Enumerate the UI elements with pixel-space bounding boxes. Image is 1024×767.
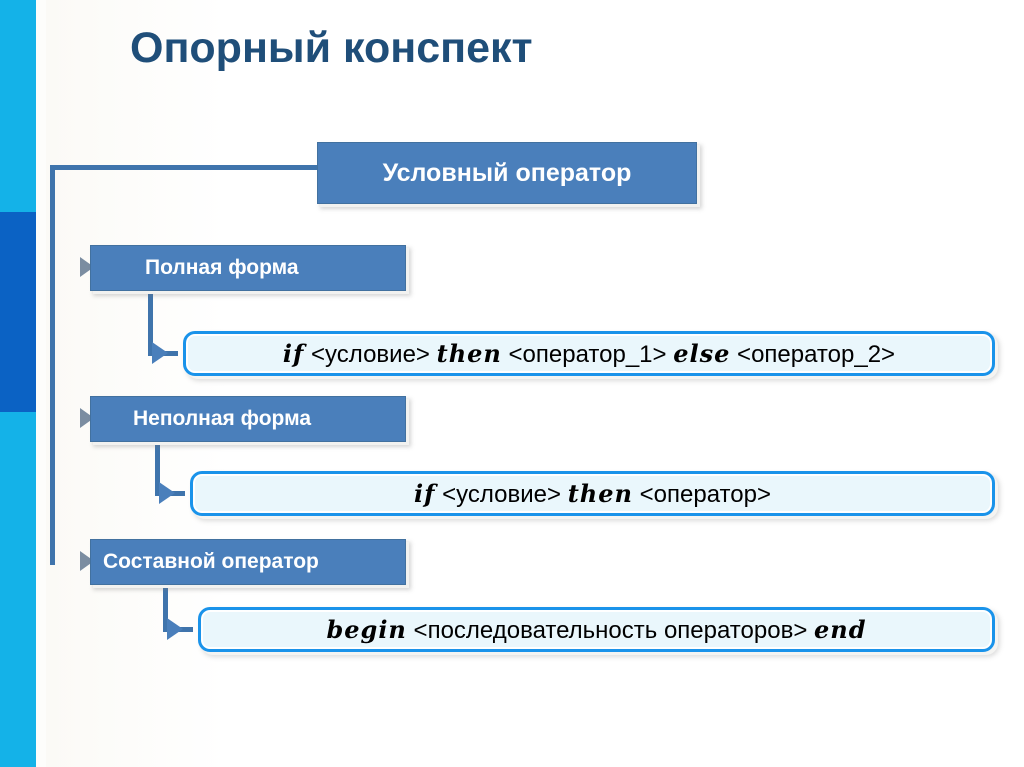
node-partial-form[interactable]: Неполная форма <box>90 396 406 442</box>
code-keyword: else <box>673 339 730 368</box>
code-keyword: then <box>437 339 502 368</box>
code-keyword: end <box>814 615 867 644</box>
slide-canvas: Опорный конспект Условный оператор Полна… <box>0 0 1024 767</box>
code-partial-form-text: if <условие> then <оператор> <box>193 479 992 509</box>
code-placeholder: <оператор_1> <box>502 341 673 368</box>
node-compound-operator[interactable]: Составной оператор <box>90 539 406 585</box>
node-conditional-operator-label: Условный оператор <box>318 159 696 188</box>
code-placeholder: <условие> <box>435 481 567 508</box>
code-keyword: then <box>568 479 633 508</box>
node-partial-form-label: Неполная форма <box>133 407 405 431</box>
arrowhead-sub-2 <box>159 482 175 504</box>
left-strip-divider <box>36 0 46 767</box>
code-compound-operator: begin <последовательность операторов> en… <box>198 607 995 652</box>
code-full-form-text: if <условие> then <оператор_1> else <опе… <box>186 339 992 369</box>
page-title: Опорный конспект <box>130 22 890 74</box>
left-accent-block <box>0 212 36 412</box>
code-placeholder: <последовательность операторов> <box>407 617 814 644</box>
code-compound-operator-text: begin <последовательность операторов> en… <box>201 615 992 645</box>
code-full-form: if <условие> then <оператор_1> else <опе… <box>183 331 995 376</box>
node-full-form-label: Полная форма <box>145 256 405 280</box>
code-placeholder: <оператор_2> <box>730 341 895 368</box>
arrowhead-sub-3 <box>167 618 183 640</box>
code-placeholder: <условие> <box>304 341 436 368</box>
code-keyword: begin <box>326 615 406 644</box>
node-full-form[interactable]: Полная форма <box>90 245 406 291</box>
node-compound-operator-label: Составной оператор <box>103 550 405 574</box>
connector-trunk-horizontal <box>50 165 318 170</box>
code-keyword: if <box>414 479 435 508</box>
code-keyword: if <box>283 339 304 368</box>
connector-trunk-vertical <box>50 165 55 565</box>
code-placeholder: <оператор> <box>633 481 771 508</box>
arrowhead-sub-1 <box>152 342 168 364</box>
code-partial-form: if <условие> then <оператор> <box>190 471 995 516</box>
node-conditional-operator[interactable]: Условный оператор <box>317 142 697 204</box>
